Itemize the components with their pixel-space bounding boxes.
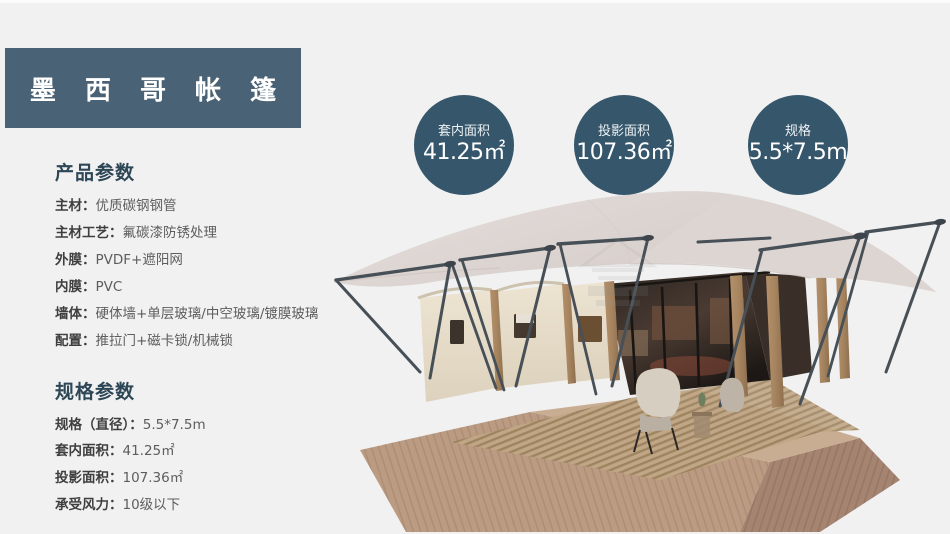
- page-title: 墨 西 哥 帐 篷: [20, 70, 286, 107]
- stat-badge-projected-area[interactable]: 投影面积 107.36㎡: [574, 95, 674, 195]
- spec-label: 配置：: [55, 333, 96, 349]
- stat-badge-label: 投影面积: [598, 125, 650, 139]
- tent-walls: [418, 282, 610, 402]
- tent-illustration: [300, 180, 950, 534]
- spec-row: 承受风力：10级以下: [55, 492, 360, 519]
- page-root: 墨 西 哥 帐 篷 产品参数 主材：优质碳钢钢管 主材工艺：氟碳漆防锈处理 外膜…: [0, 0, 950, 534]
- product-parameters-heading: 产品参数: [55, 158, 360, 185]
- spec-row: 外膜：PVDF+遮阳网: [55, 247, 360, 274]
- specification-parameters-section: 规格参数 规格（直径）：5.5*7.5m 套内面积：41.25㎡ 投影面积：10…: [0, 377, 360, 520]
- stat-badge-label: 规格: [785, 125, 811, 139]
- spec-value: 10级以下: [123, 497, 181, 513]
- spec-label: 外膜：: [55, 252, 96, 268]
- tent-illustration-svg: [300, 180, 950, 534]
- spec-label: 套内面积：: [55, 443, 123, 459]
- stat-badge-dimensions[interactable]: 规格 5.5*7.5m: [748, 95, 848, 195]
- product-parameters-section: 产品参数 主材：优质碳钢钢管 主材工艺：氟碳漆防锈处理 外膜：PVDF+遮阳网 …: [0, 158, 360, 355]
- spec-row: 主材：优质碳钢钢管: [55, 193, 360, 220]
- spec-label: 承受风力：: [55, 497, 123, 513]
- spec-row: 配置：推拉门+磁卡锁/机械锁: [55, 328, 360, 355]
- spec-value: 41.25㎡: [123, 443, 175, 459]
- stat-badge-value: 41.25㎡: [423, 141, 505, 165]
- spec-value: 氟碳漆防锈处理: [123, 225, 218, 241]
- stat-badge-label: 套内面积: [438, 125, 490, 139]
- spec-value: 推拉门+磁卡锁/机械锁: [96, 333, 233, 349]
- spec-label: 主材：: [55, 198, 96, 214]
- spec-label: 规格（直径）：: [55, 417, 143, 433]
- spec-value: 优质碳钢钢管: [96, 198, 177, 214]
- spec-row: 内膜：PVC: [55, 274, 360, 301]
- spec-row: 主材工艺：氟碳漆防锈处理: [55, 220, 360, 247]
- spec-row: 投影面积：107.36㎡: [55, 465, 360, 492]
- spec-row: 规格（直径）：5.5*7.5m: [55, 412, 360, 439]
- spec-row: 墙体：硬体墙+单层玻璃/中空玻璃/镀膜玻璃: [55, 301, 360, 328]
- spec-label: 墙体：: [55, 306, 96, 322]
- specification-parameters-heading: 规格参数: [55, 377, 360, 404]
- stat-badge-interior-area[interactable]: 套内面积 41.25㎡: [414, 95, 514, 195]
- spec-value: 5.5*7.5m: [143, 417, 206, 433]
- spec-row: 套内面积：41.25㎡: [55, 438, 360, 465]
- title-banner: 墨 西 哥 帐 篷: [5, 48, 301, 128]
- spec-label: 内膜：: [55, 279, 96, 295]
- spec-label: 投影面积：: [55, 470, 123, 486]
- specification-panel: 产品参数 主材：优质碳钢钢管 主材工艺：氟碳漆防锈处理 外膜：PVDF+遮阳网 …: [0, 158, 360, 523]
- stat-badge-value: 107.36㎡: [576, 141, 671, 165]
- spec-value: 107.36㎡: [123, 470, 184, 486]
- spec-value: 硬体墙+单层玻璃/中空玻璃/镀膜玻璃: [96, 306, 319, 322]
- stat-badge-value: 5.5*7.5m: [749, 141, 847, 165]
- spec-value: PVC: [96, 279, 123, 295]
- spec-value: PVDF+遮阳网: [96, 252, 183, 268]
- spec-label: 主材工艺：: [55, 225, 123, 241]
